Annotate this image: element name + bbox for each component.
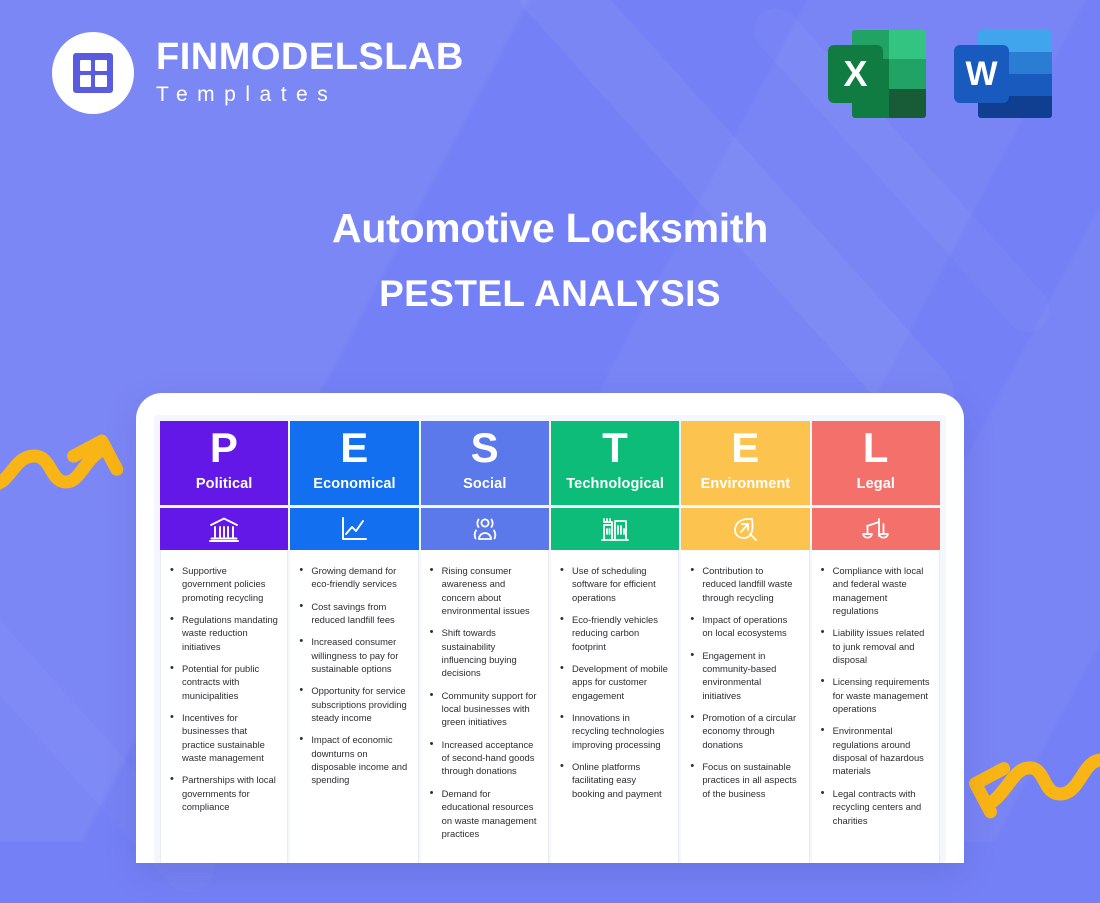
grid-squares-icon <box>73 53 113 93</box>
list-item: Cost savings from reduced landfill fees <box>297 600 408 627</box>
column-header-economical: E Economical <box>290 421 418 505</box>
column-category: Political <box>196 476 253 492</box>
scales-justice-icon <box>812 508 940 550</box>
tablet-screen: P Political Supportive government polici… <box>154 415 946 863</box>
list-item: Shift towards sustainability influencing… <box>428 626 539 679</box>
pestel-column-economical: E Economical Growing demand for eco-frie… <box>290 421 418 863</box>
column-body-economical: Growing demand for eco-friendly services… <box>290 550 418 863</box>
column-letter: E <box>340 427 369 469</box>
tablet-frame: P Political Supportive government polici… <box>136 393 964 863</box>
brand-tagline: Templates <box>156 81 464 108</box>
list-item: Focus on sustainable practices in all as… <box>688 760 799 800</box>
brand-logo: FINMODELSLAB Templates <box>52 32 464 114</box>
page-title-block: Automotive Locksmith PESTEL ANALYSIS <box>0 205 1100 315</box>
list-item: Demand for educational resources on wast… <box>428 787 539 840</box>
excel-icon-letter: X <box>828 45 883 103</box>
pestel-column-environment: E Environment Contribution to reduced la… <box>681 421 809 863</box>
list-item: Compliance with local and federal waste … <box>819 564 930 617</box>
column-body-political: Supportive government policies promoting… <box>160 550 288 863</box>
column-header-social: S Social <box>421 421 549 505</box>
list-item: Impact of operations on local ecosystems <box>688 613 799 640</box>
list-item: Increased consumer willingness to pay fo… <box>297 635 408 675</box>
list-item: Liability issues related to junk removal… <box>819 626 930 666</box>
list-item: Opportunity for service subscriptions pr… <box>297 684 408 724</box>
list-item: Impact of economic downturns on disposab… <box>297 733 408 786</box>
column-body-technological: Use of scheduling software for efficient… <box>551 550 679 863</box>
line-chart-icon <box>290 508 418 550</box>
excel-icon[interactable]: X <box>828 28 926 120</box>
pestel-column-technological: T Technological Use of scheduling softwa… <box>551 421 679 863</box>
logo-mark <box>52 32 134 114</box>
list-item: Partnerships with local governments for … <box>168 773 278 813</box>
list-item: Eco-friendly vehicles reducing carbon fo… <box>558 613 669 653</box>
column-body-legal: Compliance with local and federal waste … <box>812 550 940 863</box>
column-letter: S <box>471 427 500 469</box>
list-item: Potential for public contracts with muni… <box>168 662 278 702</box>
column-header-environment: E Environment <box>681 421 809 505</box>
brand-name: FINMODELSLAB <box>156 38 464 78</box>
list-item: Innovations in recycling technologies im… <box>558 711 669 751</box>
column-letter: P <box>210 427 239 469</box>
list-item: Online platforms facilitating easy booki… <box>558 760 669 800</box>
pestel-column-legal: L Legal Compliance with local and federa… <box>812 421 940 863</box>
bullet-list-technological: Use of scheduling software for efficient… <box>558 564 669 800</box>
bullet-list-environment: Contribution to reduced landfill waste t… <box>688 564 799 800</box>
pestel-column-social: S Social Rising consumer awareness and c… <box>421 421 549 863</box>
bank-institution-icon <box>160 508 288 550</box>
list-item: Contribution to reduced landfill waste t… <box>688 564 799 604</box>
list-item: Engagement in community-based environmen… <box>688 649 799 702</box>
column-header-technological: T Technological <box>551 421 679 505</box>
column-letter: E <box>731 427 760 469</box>
list-item: Rising consumer awareness and concern ab… <box>428 564 539 617</box>
list-item: Environmental regulations around disposa… <box>819 724 930 777</box>
column-category: Social <box>463 476 506 492</box>
bullet-list-economical: Growing demand for eco-friendly services… <box>297 564 408 787</box>
list-item: Licensing requirements for waste managem… <box>819 675 930 715</box>
list-item: Incentives for businesses that practice … <box>168 711 278 764</box>
list-item: Growing demand for eco-friendly services <box>297 564 408 591</box>
list-item: Supportive government policies promoting… <box>168 564 278 604</box>
bullet-list-political: Supportive government policies promoting… <box>168 564 278 814</box>
squiggly-arrow-up-right-icon <box>0 408 128 500</box>
column-letter: L <box>863 427 889 469</box>
page-subtitle: PESTEL ANALYSIS <box>0 273 1100 315</box>
column-body-social: Rising consumer awareness and concern ab… <box>421 550 549 863</box>
column-category: Economical <box>313 476 395 492</box>
pestel-table: P Political Supportive government polici… <box>160 421 940 863</box>
list-item: Increased acceptance of second-hand good… <box>428 738 539 778</box>
column-letter: T <box>602 427 628 469</box>
list-item: Regulations mandating waste reduction in… <box>168 613 278 653</box>
squiggly-arrow-down-left-icon <box>962 752 1100 844</box>
column-body-environment: Contribution to reduced landfill waste t… <box>681 550 809 863</box>
column-header-political: P Political <box>160 421 288 505</box>
file-format-icons: X W <box>828 28 1052 120</box>
pestel-column-political: P Political Supportive government polici… <box>160 421 288 863</box>
bullet-list-legal: Compliance with local and federal waste … <box>819 564 930 827</box>
factory-buildings-icon <box>551 508 679 550</box>
list-item: Promotion of a circular economy through … <box>688 711 799 751</box>
column-category: Legal <box>857 476 895 492</box>
word-icon[interactable]: W <box>954 28 1052 120</box>
list-item: Development of mobile apps for customer … <box>558 662 669 702</box>
word-icon-letter: W <box>954 45 1009 103</box>
column-header-legal: L Legal <box>812 421 940 505</box>
list-item: Legal contracts with recycling centers a… <box>819 787 930 827</box>
list-item: Use of scheduling software for efficient… <box>558 564 669 604</box>
people-group-icon <box>421 508 549 550</box>
leaf-icon <box>681 508 809 550</box>
list-item: Community support for local businesses w… <box>428 689 539 729</box>
column-category: Technological <box>566 476 664 492</box>
column-category: Environment <box>701 476 791 492</box>
page-title: Automotive Locksmith <box>0 205 1100 252</box>
bullet-list-social: Rising consumer awareness and concern ab… <box>428 564 539 840</box>
